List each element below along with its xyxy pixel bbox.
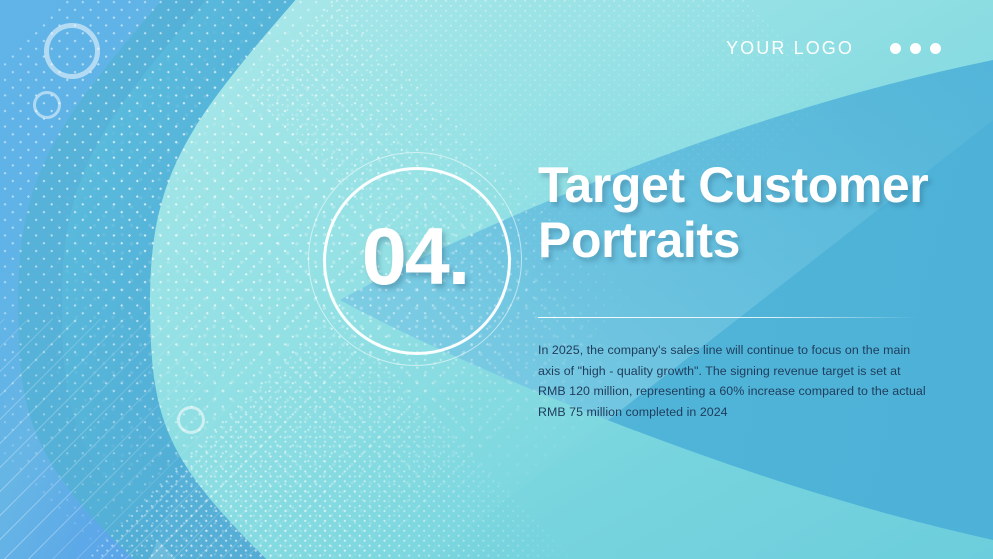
title-divider [538, 317, 916, 318]
chevron-stripe-dark [18, 0, 240, 559]
section-number-medallion: 04. [308, 152, 522, 366]
logo-dot [930, 43, 941, 54]
logo-text[interactable]: YOUR LOGO [726, 38, 854, 59]
page-title-line-2: Portraits [538, 212, 740, 268]
ring-outline-mid-icon [177, 406, 205, 434]
diagonal-lines-decor [0, 319, 300, 559]
slide-header: YOUR LOGO [726, 38, 941, 59]
section-number: 04. [308, 152, 522, 366]
logo-dot [890, 43, 901, 54]
ring-outline-large-icon [44, 23, 100, 79]
left-blue-panel [0, 0, 196, 559]
presentation-slide: YOUR LOGO 04. Target Customer Portraits … [0, 0, 993, 559]
chevron-band-mid [62, 0, 330, 559]
slide-content: Target Customer Portraits In 2025, the c… [538, 158, 968, 435]
page-title: Target Customer Portraits [538, 158, 968, 268]
page-title-line-1: Target Customer [538, 157, 928, 213]
logo-dot [910, 43, 921, 54]
body-text: In 2025, the company's sales line will c… [538, 340, 928, 422]
ring-outline-small-icon [33, 91, 61, 119]
logo-dots-icon [890, 43, 941, 54]
